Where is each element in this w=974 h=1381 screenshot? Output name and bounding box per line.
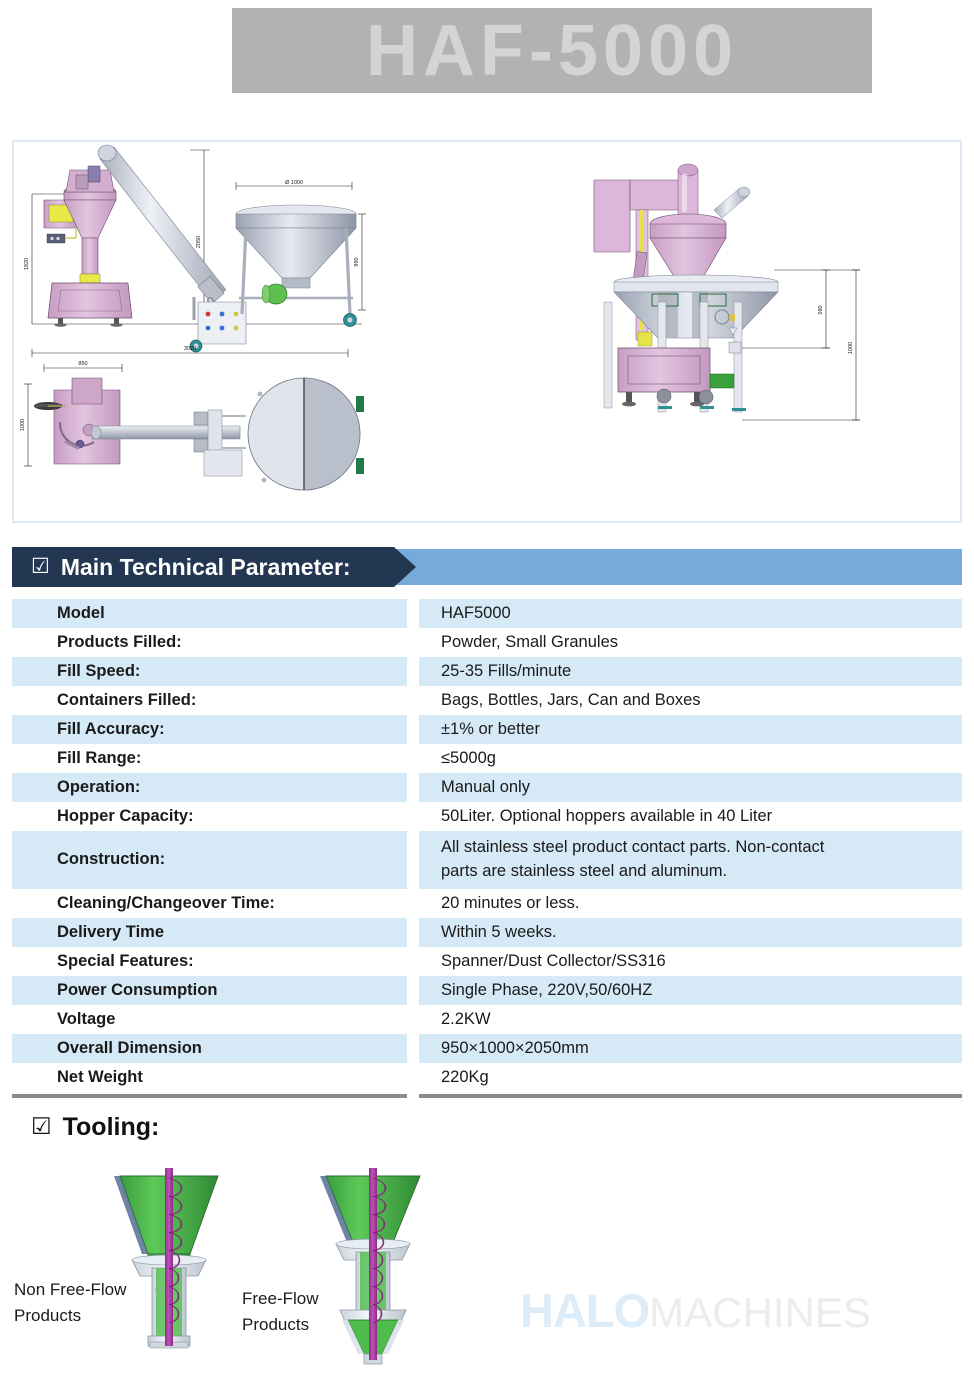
column-gap	[407, 599, 419, 628]
spec-label: Model	[12, 599, 407, 628]
spec-label: Power Consumption	[12, 976, 407, 1005]
column-gap	[407, 773, 419, 802]
table-row: ModelHAF5000	[12, 599, 962, 628]
spec-value: Spanner/Dust Collector/SS316	[419, 947, 962, 976]
spec-label: Delivery Time	[12, 918, 407, 947]
header-banner: HAF-5000	[232, 8, 872, 93]
column-gap	[407, 976, 419, 1005]
spec-value: 20 minutes or less.	[419, 889, 962, 918]
view-front-elevation: 580 1000	[594, 164, 860, 420]
tool-label-non-free-flow: Non Free-Flow Products	[14, 1277, 144, 1330]
dim-1000-plan: 1000	[20, 419, 26, 431]
spec-value: ≤5000g	[419, 744, 962, 773]
column-gap	[407, 889, 419, 918]
table-row: Construction:All stainless steel product…	[12, 831, 962, 889]
table-row: Overall Dimension950×1000×2050mm	[12, 1034, 962, 1063]
spec-value: Powder, Small Granules	[419, 628, 962, 657]
tool-label-free-flow: Free-Flow Products	[242, 1286, 362, 1339]
banner-dark-tab: ☑ Main Technical Parameter:	[12, 547, 416, 587]
spec-label: Fill Range:	[12, 744, 407, 773]
column-gap	[407, 715, 419, 744]
spec-value: 950×1000×2050mm	[419, 1034, 962, 1063]
column-gap	[407, 947, 419, 976]
table-row: Delivery TimeWithin 5 weeks.	[12, 918, 962, 947]
dim-850: 850	[78, 361, 87, 367]
dim-580: 580	[818, 305, 824, 314]
dim-1000-front: 1000	[848, 342, 854, 354]
table-bottom-rule	[12, 1094, 962, 1098]
dim-diameter-1000: Ø 1000	[285, 180, 303, 186]
column-gap	[407, 831, 419, 889]
table-row: Net Weight220Kg	[12, 1063, 962, 1092]
tool-label-line1: Free-Flow	[242, 1286, 362, 1312]
column-gap	[407, 744, 419, 773]
checkbox-icon: ☑	[31, 556, 50, 577]
spec-label: Containers Filled:	[12, 686, 407, 715]
column-gap	[407, 918, 419, 947]
column-gap	[407, 1034, 419, 1063]
checkbox-icon: ☑	[31, 1115, 52, 1138]
section-title: Main Technical Parameter:	[61, 554, 351, 581]
table-row: Containers Filled:Bags, Bottles, Jars, C…	[12, 686, 962, 715]
spec-value: Manual only	[419, 773, 962, 802]
dim-1820: 1820	[24, 258, 30, 270]
spec-value: HAF5000	[419, 599, 962, 628]
rule-segment-right	[419, 1094, 962, 1098]
spec-label: Operation:	[12, 773, 407, 802]
tooling-svg	[0, 1160, 974, 1381]
spec-label: Cleaning/Changeover Time:	[12, 889, 407, 918]
spec-label: Special Features:	[12, 947, 407, 976]
table-row: Cleaning/Changeover Time:20 minutes or l…	[12, 889, 962, 918]
datasheet-page: HAF-5000	[0, 0, 974, 1381]
spec-label: Net Weight	[12, 1063, 407, 1092]
table-row: Power ConsumptionSingle Phase, 220V,50/6…	[12, 976, 962, 1005]
page-title: HAF-5000	[366, 15, 738, 87]
dim-990: 990	[354, 257, 360, 266]
view-plan: 3020 850 1000	[20, 346, 364, 490]
tool-label-line2: Products	[14, 1303, 144, 1329]
column-gap	[407, 1063, 419, 1092]
spec-value: Bags, Bottles, Jars, Can and Boxes	[419, 686, 962, 715]
spec-value-line2: parts are stainless steel and aluminum.	[441, 860, 727, 884]
spec-value: Within 5 weeks.	[419, 918, 962, 947]
spec-table: ModelHAF5000Products Filled:Powder, Smal…	[12, 599, 962, 1092]
spec-label: Fill Speed:	[12, 657, 407, 686]
dim-2050: 2050	[196, 236, 202, 248]
spec-value: ±1% or better	[419, 715, 962, 744]
rule-gap	[407, 1094, 419, 1098]
main-technical-parameter-banner: ☑ Main Technical Parameter:	[12, 547, 962, 587]
tooling-title: Tooling:	[63, 1113, 160, 1142]
column-gap	[407, 802, 419, 831]
spec-value: 25-35 Fills/minute	[419, 657, 962, 686]
column-gap	[407, 628, 419, 657]
tool-label-line2: Products	[242, 1312, 362, 1338]
spec-value: 220Kg	[419, 1063, 962, 1092]
spec-label: Hopper Capacity:	[12, 802, 407, 831]
table-row: Fill Accuracy:±1% or better	[12, 715, 962, 744]
dim-3020: 3020	[184, 346, 196, 352]
spec-value: Single Phase, 220V,50/60HZ	[419, 976, 962, 1005]
table-row: Hopper Capacity:50Liter. Optional hopper…	[12, 802, 962, 831]
spec-value: 2.2KW	[419, 1005, 962, 1034]
table-row: Fill Range:≤5000g	[12, 744, 962, 773]
column-gap	[407, 1005, 419, 1034]
table-row: Products Filled:Powder, Small Granules	[12, 628, 962, 657]
spec-value: 50Liter. Optional hoppers available in 4…	[419, 802, 962, 831]
spec-label: Products Filled:	[12, 628, 407, 657]
spec-label: Construction:	[12, 831, 407, 889]
spec-value: All stainless steel product contact part…	[419, 831, 962, 889]
column-gap	[407, 686, 419, 715]
table-row: Special Features:Spanner/Dust Collector/…	[12, 947, 962, 976]
tool-label-line1: Non Free-Flow	[14, 1277, 144, 1303]
spec-label: Voltage	[12, 1005, 407, 1034]
table-row: Operation:Manual only	[12, 773, 962, 802]
table-row: Fill Speed:25-35 Fills/minute	[12, 657, 962, 686]
spec-label: Fill Accuracy:	[12, 715, 407, 744]
tooling-heading: ☑ Tooling:	[31, 1113, 159, 1142]
column-gap	[407, 657, 419, 686]
rule-segment-left	[12, 1094, 407, 1098]
technical-drawing-svg: 1820 2050	[14, 142, 960, 521]
spec-label: Overall Dimension	[12, 1034, 407, 1063]
view-side-elevation: 1820 2050	[24, 145, 366, 352]
table-row: Voltage2.2KW	[12, 1005, 962, 1034]
technical-drawing-panel: 1820 2050	[12, 140, 962, 523]
spec-value-line1: All stainless steel product contact part…	[441, 836, 824, 860]
tooling-diagrams	[0, 1160, 974, 1381]
